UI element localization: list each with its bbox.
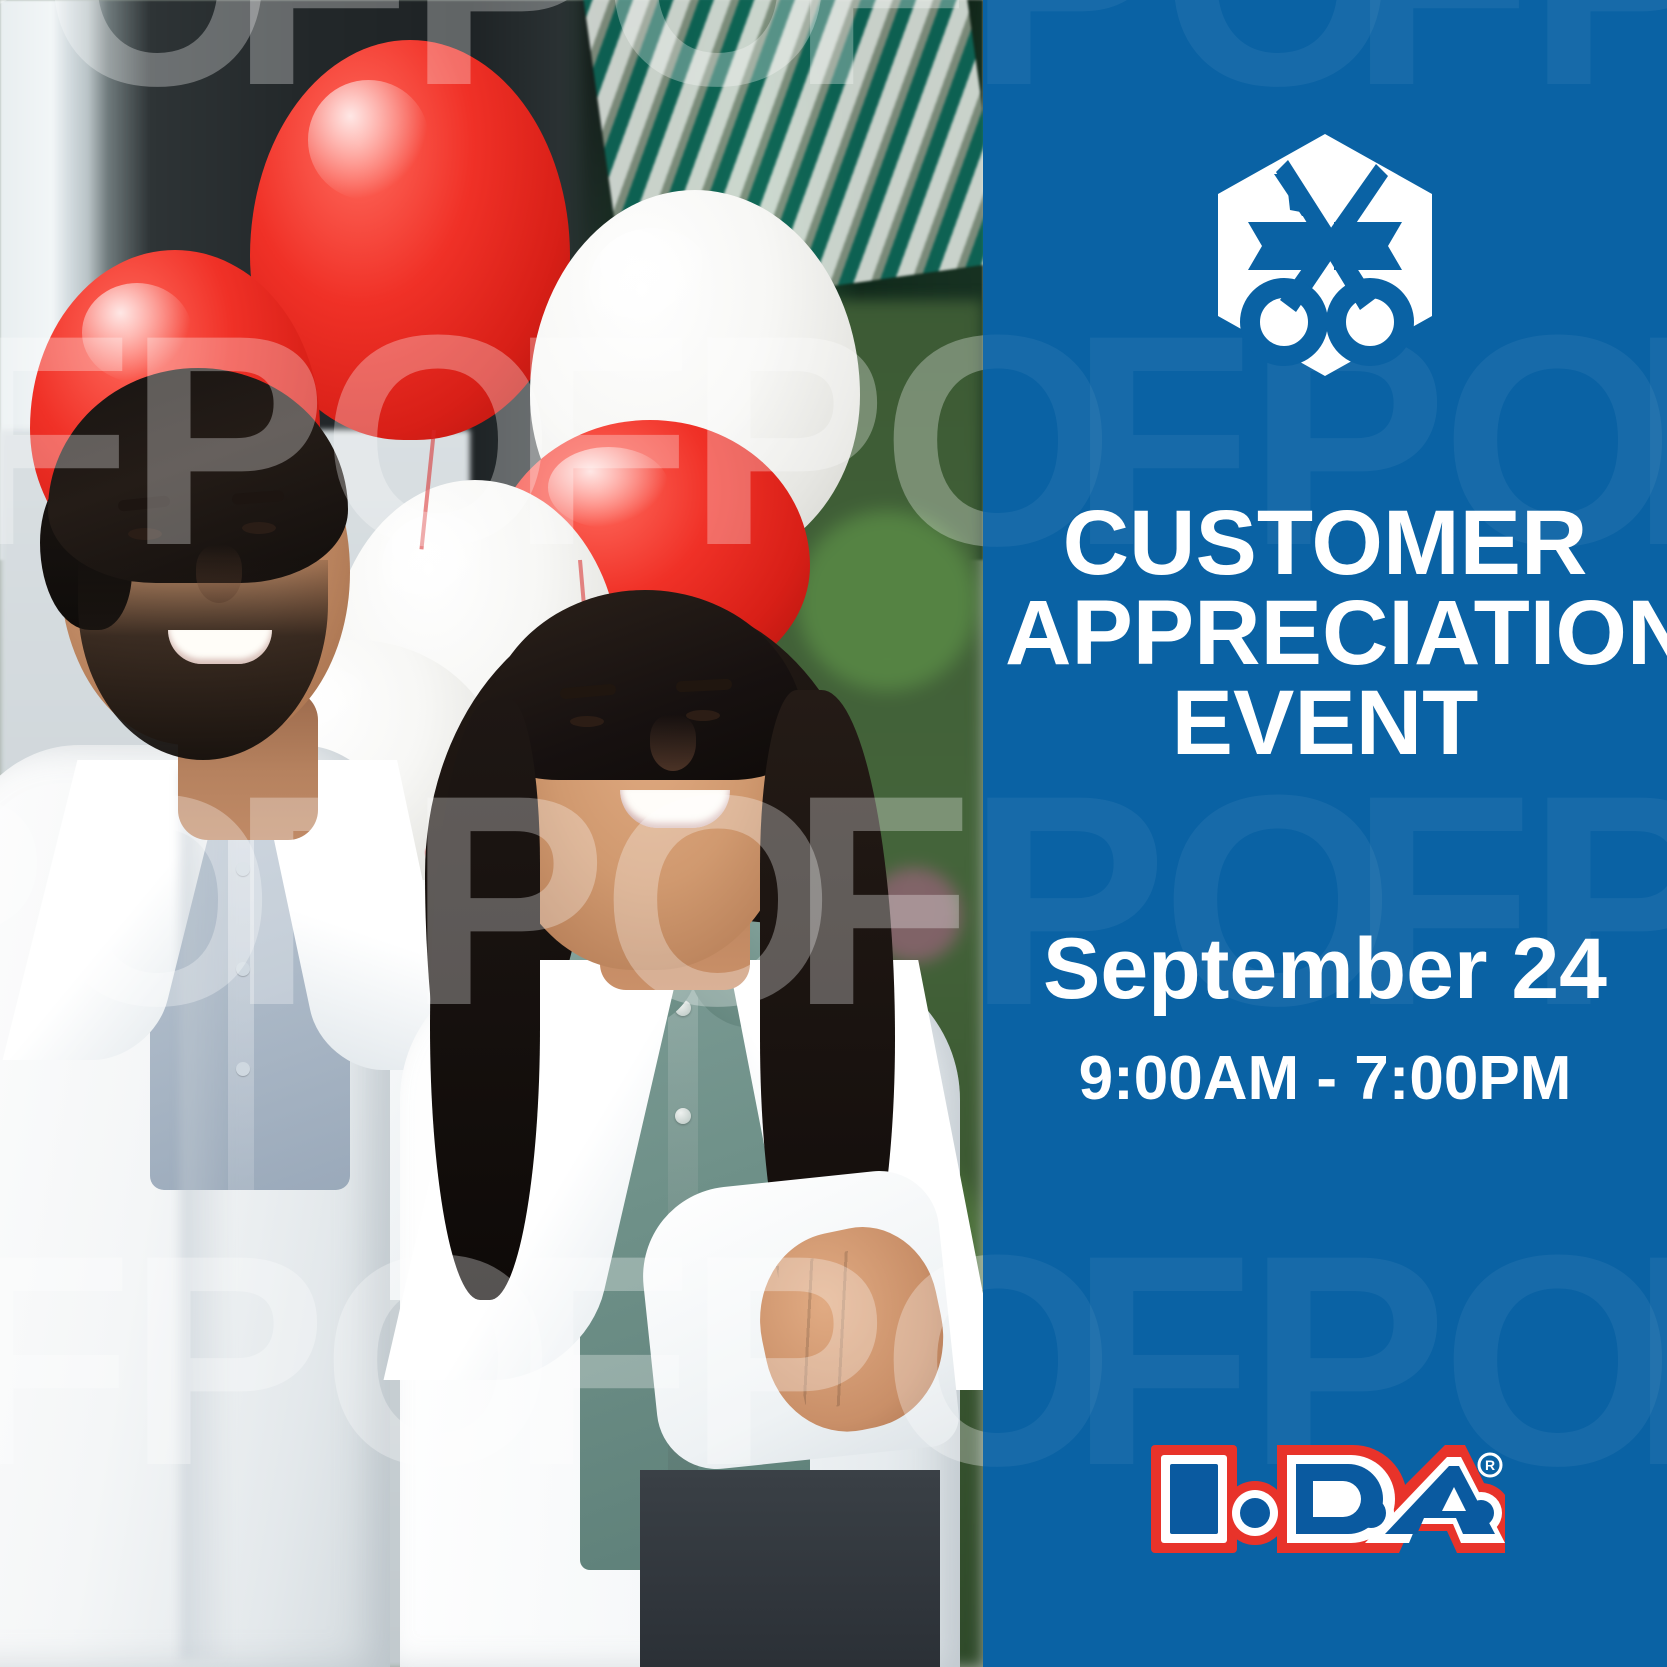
male-eye-right <box>242 522 276 534</box>
male-shirt-button <box>236 862 250 876</box>
page-title: CUSTOMER APPRECIATION EVENT <box>1005 498 1645 768</box>
trademark-glyph: R <box>1485 1457 1495 1473</box>
ida-pharmacy-logo: R <box>1145 1429 1505 1569</box>
female-skirt <box>640 1470 940 1667</box>
female-eye-right <box>686 710 720 721</box>
headline-line-3: EVENT <box>1005 678 1645 768</box>
headline-line-2: APPRECIATION <box>1005 588 1645 678</box>
female-nose <box>650 715 696 771</box>
poster-canvas: CUSTOMER APPRECIATION EVENT September 24… <box>0 0 1667 1667</box>
male-shirt-button <box>236 1062 250 1076</box>
male-eye-left <box>128 528 162 540</box>
headline-line-1: CUSTOMER <box>1005 498 1645 588</box>
male-shirt-button <box>236 962 250 976</box>
female-eye-left <box>570 716 604 727</box>
male-coat-fold <box>180 770 232 1660</box>
event-photo <box>0 0 983 1667</box>
ribbon-cutting-scissors-hexagon-icon <box>1210 130 1440 380</box>
info-panel: CUSTOMER APPRECIATION EVENT September 24… <box>983 0 1667 1667</box>
female-blouse-button <box>675 1108 691 1124</box>
event-time: 9:00AM - 7:00PM <box>1079 1048 1572 1110</box>
event-date: September 24 <box>1043 926 1607 1012</box>
